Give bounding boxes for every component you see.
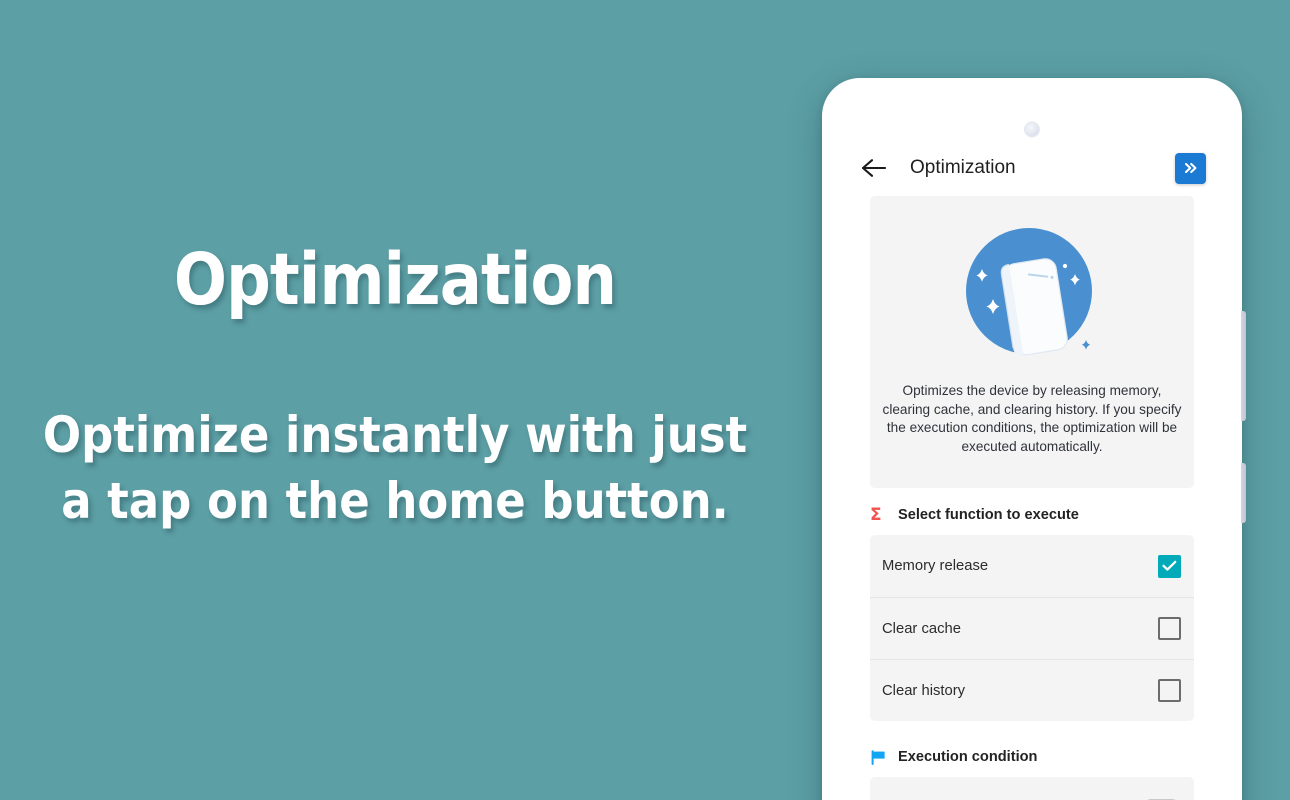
section-label: Execution condition xyxy=(898,749,1037,765)
hero-description: Optimizes the device by releasing memory… xyxy=(880,382,1184,456)
volume-button[interactable] xyxy=(1241,311,1246,421)
list-item-label: Memory release xyxy=(882,558,988,574)
list-item-clear-history[interactable]: Clear history xyxy=(870,659,1194,721)
list-item-screen-off[interactable]: When screen is turned off xyxy=(870,777,1194,800)
phone-sparkle-optimize-icon xyxy=(870,212,1194,380)
section-header: Σ Select function to execute xyxy=(870,504,1194,526)
flag-icon xyxy=(870,749,890,766)
front-camera-icon xyxy=(1026,123,1039,136)
section-header: Execution condition xyxy=(870,746,1194,768)
condition-list-card: When screen is turned off xyxy=(870,777,1194,800)
list-item-label: Clear cache xyxy=(882,621,961,637)
section-label: Select function to execute xyxy=(898,507,1079,523)
power-button[interactable] xyxy=(1241,463,1246,523)
promo-subtitle: Optimize instantly with just a tap on th… xyxy=(40,402,751,534)
function-list-card: Memory release Clear cache Clear history xyxy=(870,535,1194,721)
app-bar: Optimization xyxy=(844,140,1220,196)
list-item-memory-release[interactable]: Memory release xyxy=(870,535,1194,597)
hero-card: Optimizes the device by releasing memory… xyxy=(870,196,1194,488)
section-select-function: Σ Select function to execute Memory rele… xyxy=(870,504,1194,721)
page-title: Optimization xyxy=(910,157,1016,179)
promo-title: Optimization xyxy=(47,238,742,321)
double-chevron-right-icon[interactable] xyxy=(1175,153,1206,184)
checkbox-clear-history[interactable] xyxy=(1158,679,1181,702)
screenshot-root: Optimization Optimize instantly with jus… xyxy=(0,0,1290,800)
list-item-label: Clear history xyxy=(882,683,965,699)
promo-subtitle-line-1: Optimize instantly with just xyxy=(40,402,751,468)
section-execution-condition: Execution condition When screen is turne… xyxy=(870,746,1194,800)
promo-panel: Optimization Optimize instantly with jus… xyxy=(0,0,790,800)
checkbox-clear-cache[interactable] xyxy=(1158,617,1181,640)
arrow-left-icon[interactable] xyxy=(858,153,888,183)
list-item-clear-cache[interactable]: Clear cache xyxy=(870,597,1194,659)
phone-screen: Optimization xyxy=(844,100,1220,800)
promo-subtitle-line-2: a tap on the home button. xyxy=(40,468,751,534)
checkbox-memory-release[interactable] xyxy=(1158,555,1181,578)
phone-mockup: Optimization xyxy=(822,78,1242,800)
sigma-icon: Σ xyxy=(870,507,890,524)
